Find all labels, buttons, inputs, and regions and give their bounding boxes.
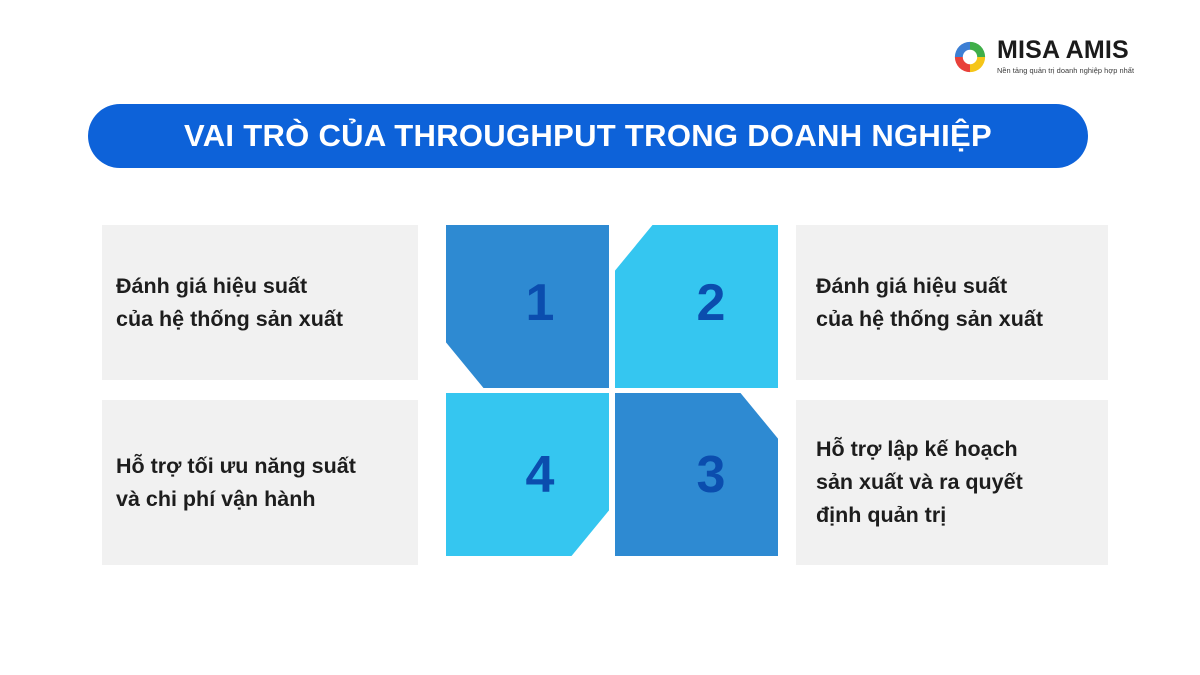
quadrant-3-number: 3 [697, 449, 725, 501]
brand-logo: MISA AMIS Nền tảng quản trị doanh nghiệp… [952, 38, 1134, 75]
quadrant-1-number: 1 [526, 277, 554, 329]
quadrant-1: 1 [446, 225, 609, 388]
quadrant-diagram: 1 2 3 4 [446, 225, 778, 556]
quadrant-4: 4 [446, 393, 609, 556]
panel-bottom-left: Hỗ trợ tối ưu năng suất và chi phí vận h… [102, 400, 418, 565]
panel-top-right-text: Đánh giá hiệu suất của hệ thống sản xuất [796, 270, 1043, 335]
panel-top-right: Đánh giá hiệu suất của hệ thống sản xuất [796, 225, 1108, 380]
panel-top-left: Đánh giá hiệu suất của hệ thống sản xuất [102, 225, 418, 380]
panel-bottom-left-text: Hỗ trợ tối ưu năng suất và chi phí vận h… [102, 450, 356, 515]
quadrant-3: 3 [615, 393, 778, 556]
panel-bottom-right-text: Hỗ trợ lập kế hoạch sản xuất và ra quyết… [796, 433, 1023, 531]
brand-tagline: Nền tảng quản trị doanh nghiệp hợp nhất [997, 66, 1134, 76]
quadrant-4-number: 4 [526, 449, 554, 501]
panel-bottom-right: Hỗ trợ lập kế hoạch sản xuất và ra quyết… [796, 400, 1108, 565]
panel-top-left-text: Đánh giá hiệu suất của hệ thống sản xuất [102, 270, 343, 335]
infographic-canvas: MISA AMIS Nền tảng quản trị doanh nghiệp… [0, 0, 1200, 675]
page-title: VAI TRÒ CỦA THROUGHPUT TRONG DOANH NGHIỆ… [184, 118, 992, 154]
quadrant-2: 2 [615, 225, 778, 388]
brand-name: MISA AMIS [997, 38, 1134, 64]
quadrant-2-number: 2 [697, 277, 725, 329]
brand-text-block: MISA AMIS Nền tảng quản trị doanh nghiệp… [997, 38, 1134, 75]
title-banner: VAI TRÒ CỦA THROUGHPUT TRONG DOANH NGHIỆ… [88, 104, 1088, 168]
misa-swirl-logo-icon [952, 39, 988, 75]
